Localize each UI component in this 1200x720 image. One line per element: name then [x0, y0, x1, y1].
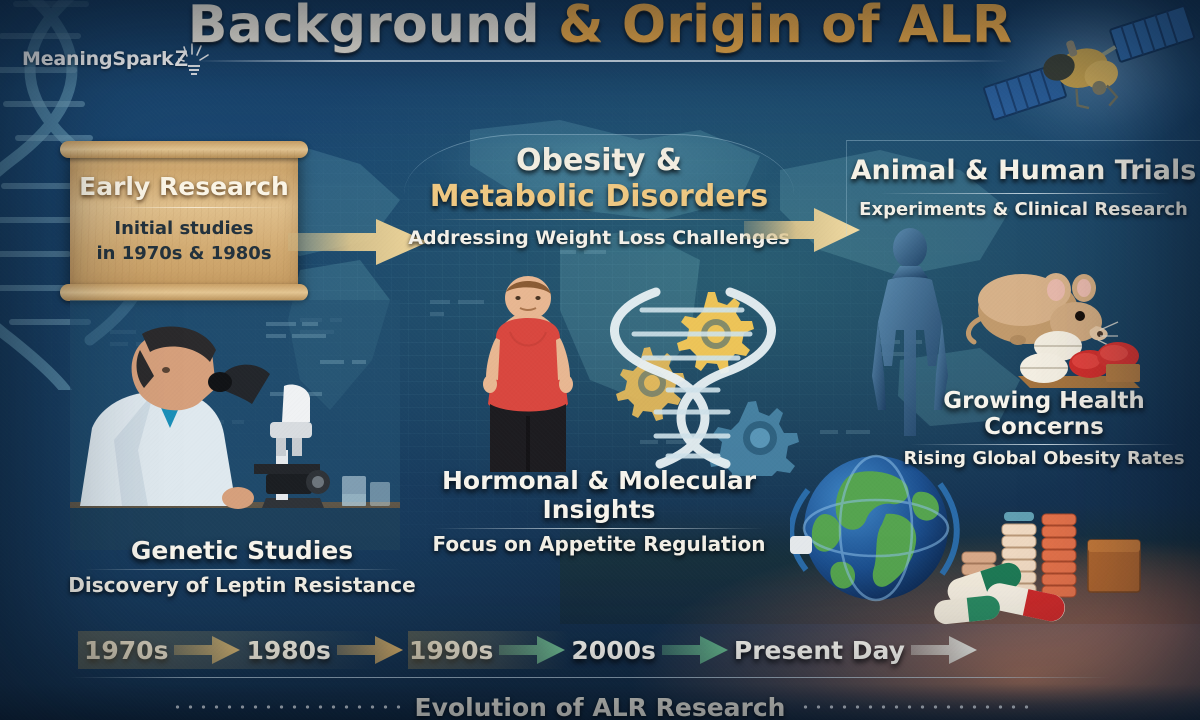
- infographic-canvas: MeaningSpark Z Background & Origin of AL…: [0, 0, 1200, 720]
- early-research-divider: [108, 207, 284, 208]
- trials-divider: [879, 193, 1171, 194]
- timeline-arrow-green: [662, 635, 728, 665]
- timeline-step-1990s[interactable]: 1990s: [403, 628, 565, 672]
- trials-title: Animal & Human Trials: [847, 155, 1200, 186]
- timeline-step-label: 1990s: [403, 636, 499, 665]
- hormonal-divider: [434, 528, 764, 529]
- obesity-subtitle: Addressing Weight Loss Challenges: [404, 227, 794, 249]
- obesity-title-line1: Obesity &: [404, 143, 794, 178]
- card-early-research[interactable]: Early Research Initial studies in 1970s …: [60, 142, 312, 312]
- card-obesity-metabolic[interactable]: Obesity & Metabolic Disorders Addressing…: [404, 134, 794, 270]
- timeline-step-label: 1980s: [240, 636, 336, 665]
- scientist-microscope-image: [70, 300, 400, 550]
- trials-subtitle: Experiments & Clinical Research: [847, 199, 1200, 220]
- genetic-title: Genetic Studies: [64, 536, 420, 565]
- early-research-subtitle-line1: Initial studies: [70, 216, 298, 241]
- timeline-step-label: 2000s: [565, 636, 661, 665]
- block-hormonal-insights: Hormonal & Molecular Insights Focus on A…: [396, 466, 802, 556]
- timeline-step-label: Present Day: [728, 636, 911, 665]
- caption-dots-right: [799, 705, 1029, 709]
- title-underline: [196, 60, 1008, 62]
- early-research-subtitle: Initial studies in 1970s & 1980s: [70, 216, 298, 266]
- timeline-step-1970s[interactable]: 1970s: [78, 628, 240, 672]
- early-research-subtitle-line2: in 1970s & 1980s: [70, 241, 298, 266]
- footer-caption: Evolution of ALR Research: [0, 690, 1200, 720]
- page-title-white: Background: [188, 0, 540, 55]
- early-research-title: Early Research: [70, 172, 298, 201]
- hormonal-title: Hormonal & Molecular Insights: [396, 466, 802, 524]
- logo-text: MeaningSpark: [22, 48, 174, 70]
- parchment-scroll-icon: Early Research Initial studies in 1970s …: [70, 150, 298, 292]
- growing-divider: [910, 444, 1178, 445]
- capsules-image: [930, 548, 1080, 628]
- block-growing-health-concerns: Growing Health Concerns Rising Global Ob…: [888, 388, 1200, 469]
- obese-person-image: [462, 276, 594, 472]
- timeline-arrow-green: [499, 635, 565, 665]
- obesity-divider: [430, 219, 768, 220]
- timeline-arrow-gold: [337, 635, 403, 665]
- genetic-divider: [84, 569, 400, 570]
- timeline-step-2000s[interactable]: 2000s: [565, 628, 727, 672]
- page-title-gold: & Origin of ALR: [558, 0, 1012, 55]
- hormonal-subtitle: Focus on Appetite Regulation: [396, 532, 802, 556]
- timeline-arrow-gold: [174, 635, 240, 665]
- timeline-step-present-day[interactable]: Present Day: [728, 628, 977, 672]
- card-animal-human-trials[interactable]: Animal & Human Trials Experiments & Clin…: [846, 140, 1200, 236]
- page-title: Background & Origin of ALR: [170, 0, 1030, 58]
- timeline-underline: [70, 677, 1110, 678]
- caption-text: Evolution of ALR Research: [415, 693, 786, 720]
- gears-dna-image: [600, 286, 820, 476]
- obesity-title-line2: Metabolic Disorders: [404, 179, 794, 214]
- pills-tray-image: [1014, 316, 1144, 394]
- caption-dots-left: [171, 705, 401, 709]
- genetic-subtitle: Discovery of Leptin Resistance: [64, 573, 420, 597]
- timeline-arrow-white: [911, 635, 977, 665]
- timeline-step-1980s[interactable]: 1980s: [240, 628, 402, 672]
- timeline-step-label: 1970s: [78, 636, 174, 665]
- growing-subtitle: Rising Global Obesity Rates: [888, 448, 1200, 469]
- growing-title: Growing Health Concerns: [888, 388, 1200, 440]
- block-genetic-studies: Genetic Studies Discovery of Leptin Resi…: [64, 536, 420, 597]
- timeline[interactable]: 1970s1980s1990s2000sPresent Day: [78, 628, 1098, 672]
- flow-arrow-obesity-to-trials: [744, 206, 860, 254]
